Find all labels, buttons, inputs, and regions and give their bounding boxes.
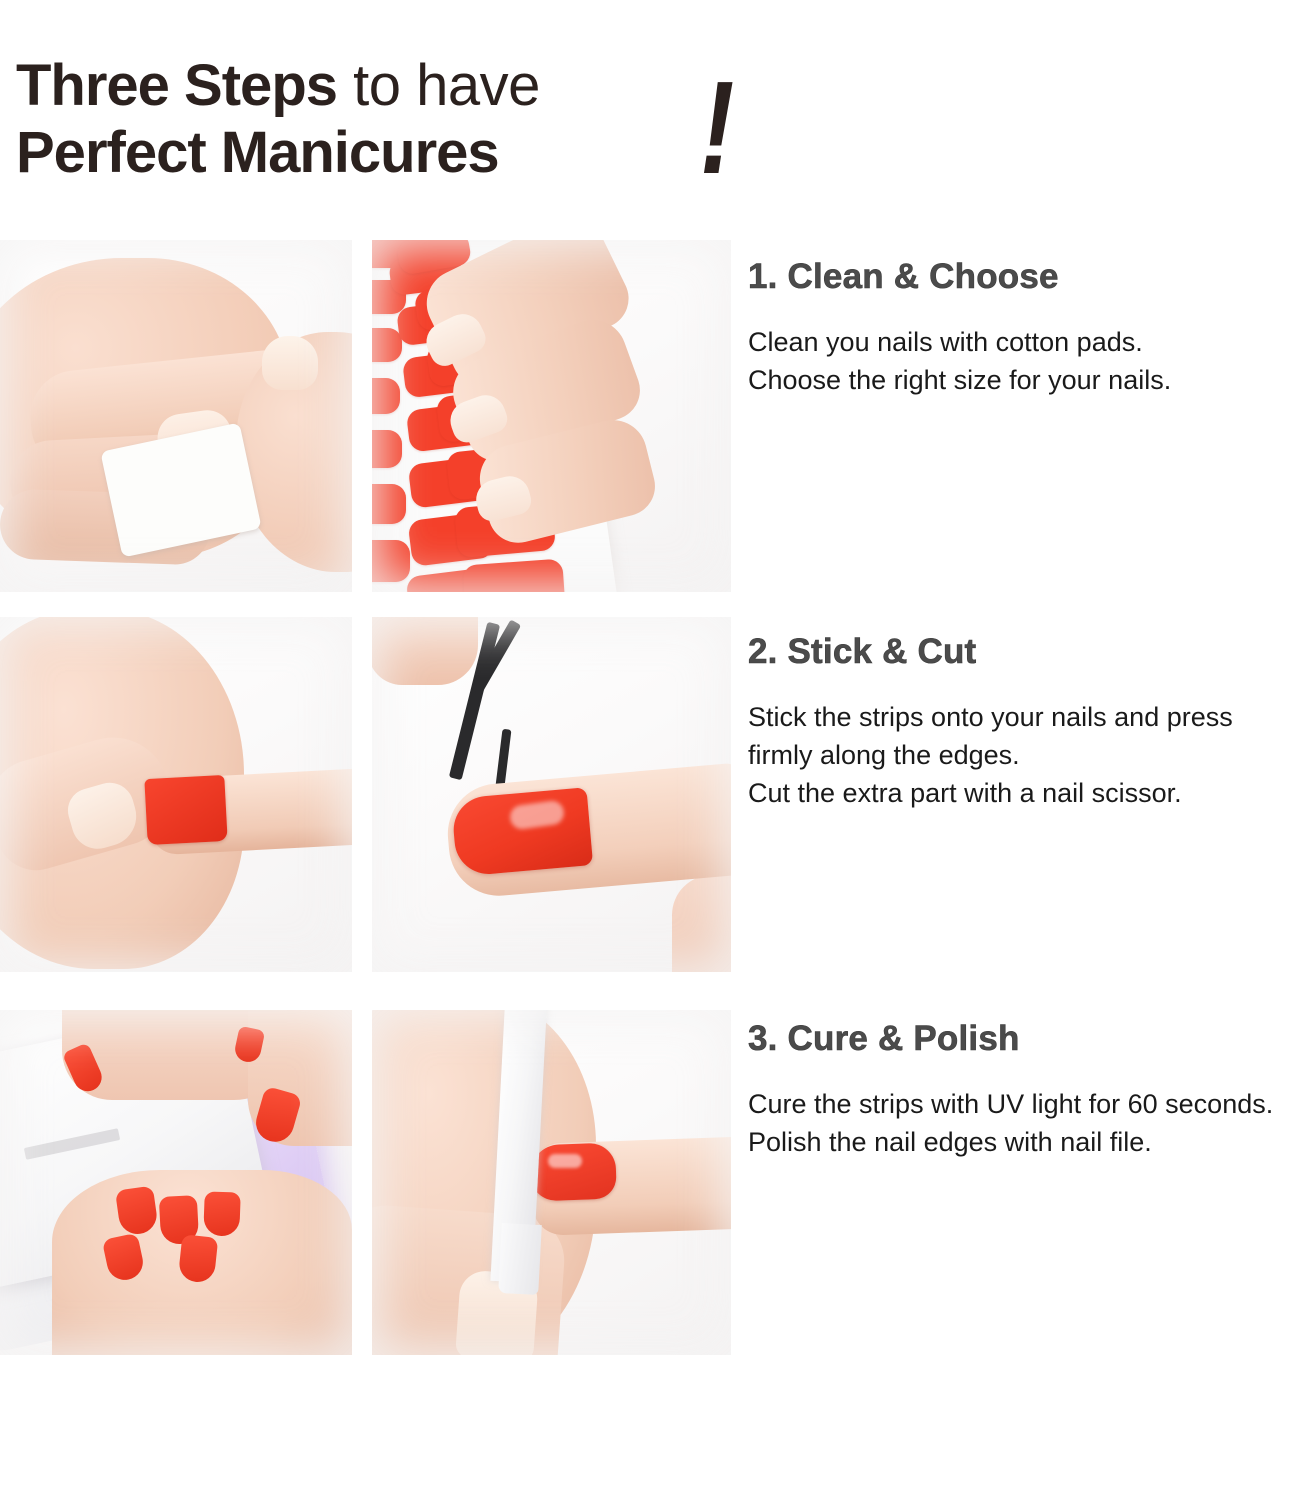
step-1-line-2: Choose the right size for your nails. [748, 361, 1296, 399]
step-2-body: Stick the strips onto your nails and pre… [748, 698, 1296, 813]
title-line-1: Three Steps to have [16, 56, 776, 115]
step-block-3: 3. Cure & Polish Cure the strips with UV… [748, 1020, 1296, 1161]
title-bold-1: Three Steps [16, 53, 337, 118]
step-3-body: Cure the strips with UV light for 60 sec… [748, 1085, 1296, 1162]
title-regular-1: to have [353, 53, 540, 118]
step-2-line-1: Stick the strips onto your nails and pre… [748, 698, 1296, 775]
step-block-2: 2. Stick & Cut Stick the strips onto you… [748, 633, 1296, 812]
photo-cutting-strip-with-scissor [372, 617, 731, 972]
step-3-heading: 3. Cure & Polish [748, 1020, 1296, 1059]
title-bold-2: Perfect Manicures [16, 120, 499, 185]
photo-sticking-strip-onto-nail [0, 617, 352, 972]
step-1-line-1: Clean you nails with cotton pads. [748, 323, 1296, 361]
photo-red-nail-strips-sheet [372, 240, 731, 592]
page-title: Three Steps to have Perfect Manicures [16, 56, 776, 206]
photo-curing-nails-in-uv-lamp [0, 1010, 352, 1355]
photo-filing-nail-edge [372, 1010, 731, 1355]
step-1-body: Clean you nails with cotton pads. Choose… [748, 323, 1296, 400]
exclamation-mark: ! [700, 62, 734, 194]
step-3-line-1: Cure the strips with UV light for 60 sec… [748, 1085, 1296, 1123]
step-3-line-2: Polish the nail edges with nail file. [748, 1123, 1296, 1161]
step-2-heading: 2. Stick & Cut [748, 633, 1296, 672]
photo-cleaning-nail-with-cotton-pad [0, 240, 352, 592]
title-line-2: Perfect Manicures [16, 123, 776, 182]
step-block-1: 1. Clean & Choose Clean you nails with c… [748, 258, 1296, 399]
step-2-line-2: Cut the extra part with a nail scissor. [748, 774, 1296, 812]
step-1-heading: 1. Clean & Choose [748, 258, 1296, 297]
